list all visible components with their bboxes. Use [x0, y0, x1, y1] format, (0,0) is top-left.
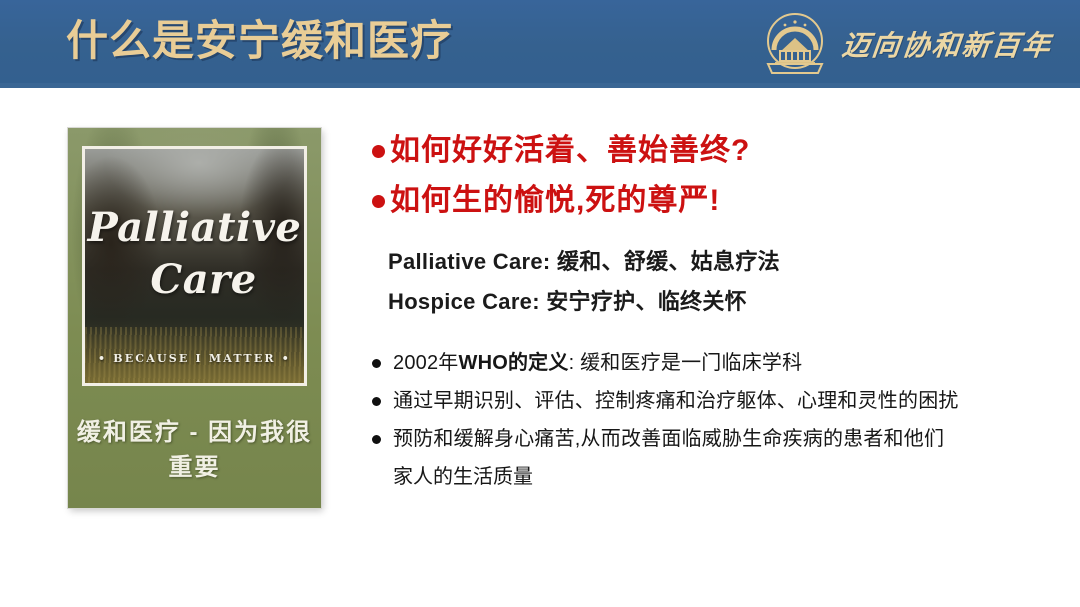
poster-script-title: Palliative Care: [85, 205, 304, 303]
palliative-care-line: Palliative Care: 缓和、舒缓、姑息疗法: [388, 242, 1062, 282]
poster-tagline: • BECAUSE I MATTER •: [85, 352, 304, 365]
pumc-building-emblem-icon: [760, 10, 830, 78]
header-divider-rule: [0, 83, 1080, 88]
who-wrap-line: 家人的生活质量: [393, 458, 1062, 496]
who-item-suffix: : 缓和医疗是一门临床学科: [569, 352, 803, 374]
who-item-text: 2002年WHO的定义: 缓和医疗是一门临床学科: [393, 344, 1062, 382]
palliative-care-poster: Palliative Care • BECAUSE I MATTER • 缓和医…: [68, 128, 321, 508]
care-definition-block: Palliative Care: 缓和、舒缓、姑息疗法 Hospice Care…: [388, 242, 1062, 322]
who-item-prefix: 2002年: [393, 352, 459, 374]
poster-script-line1: Palliative: [88, 204, 302, 251]
red-question-item: 如何好好活着、善始善终?: [372, 126, 1062, 176]
logo-wordmark: 迈向协和新百年: [840, 24, 1054, 64]
who-item-text: 通过早期识别、评估、控制疼痛和治疗躯体、心理和灵性的困扰: [393, 382, 1062, 420]
poster-photo-frame: Palliative Care • BECAUSE I MATTER •: [82, 146, 307, 386]
who-definition-list: 2002年WHO的定义: 缓和医疗是一门临床学科 通过早期识别、评估、控制疼痛和…: [372, 344, 1062, 458]
list-item: 通过早期识别、评估、控制疼痛和治疗躯体、心理和灵性的困扰: [372, 382, 1062, 420]
red-question-list: 如何好好活着、善始善终? 如何生的愉悦,死的尊严!: [372, 126, 1062, 226]
who-item-text: 预防和缓解身心痛苦,从而改善面临威胁生命疾病的患者和他们: [393, 420, 1062, 458]
poster-script-line2: Care: [103, 257, 304, 303]
slide-canvas: 什么是安宁缓和医疗 迈向协和新百年: [0, 0, 1080, 607]
red-question-text: 如何好好活着、善始善终?: [390, 126, 750, 176]
page-title: 什么是安宁缓和医疗: [66, 12, 453, 70]
brand-logo-cluster: 迈向协和新百年: [760, 8, 1060, 80]
red-question-text: 如何生的愉悦,死的尊严!: [390, 176, 720, 226]
red-bullet-icon: [372, 145, 385, 158]
list-item: 预防和缓解身心痛苦,从而改善面临威胁生命疾病的患者和他们: [372, 420, 1062, 458]
red-question-item: 如何生的愉悦,死的尊严!: [372, 176, 1062, 226]
content-column: 如何好好活着、善始善终? 如何生的愉悦,死的尊严! Palliative Car…: [372, 126, 1062, 496]
who-item-bold: WHO的定义: [459, 352, 569, 374]
black-bullet-icon: [372, 435, 381, 444]
black-bullet-icon: [372, 397, 381, 406]
red-bullet-icon: [372, 195, 385, 208]
hospice-care-line: Hospice Care: 安宁疗护、临终关怀: [388, 282, 1062, 322]
black-bullet-icon: [372, 359, 381, 368]
poster-caption: 缓和医疗 - 因为我很重要: [68, 412, 321, 482]
list-item: 2002年WHO的定义: 缓和医疗是一门临床学科: [372, 344, 1062, 382]
